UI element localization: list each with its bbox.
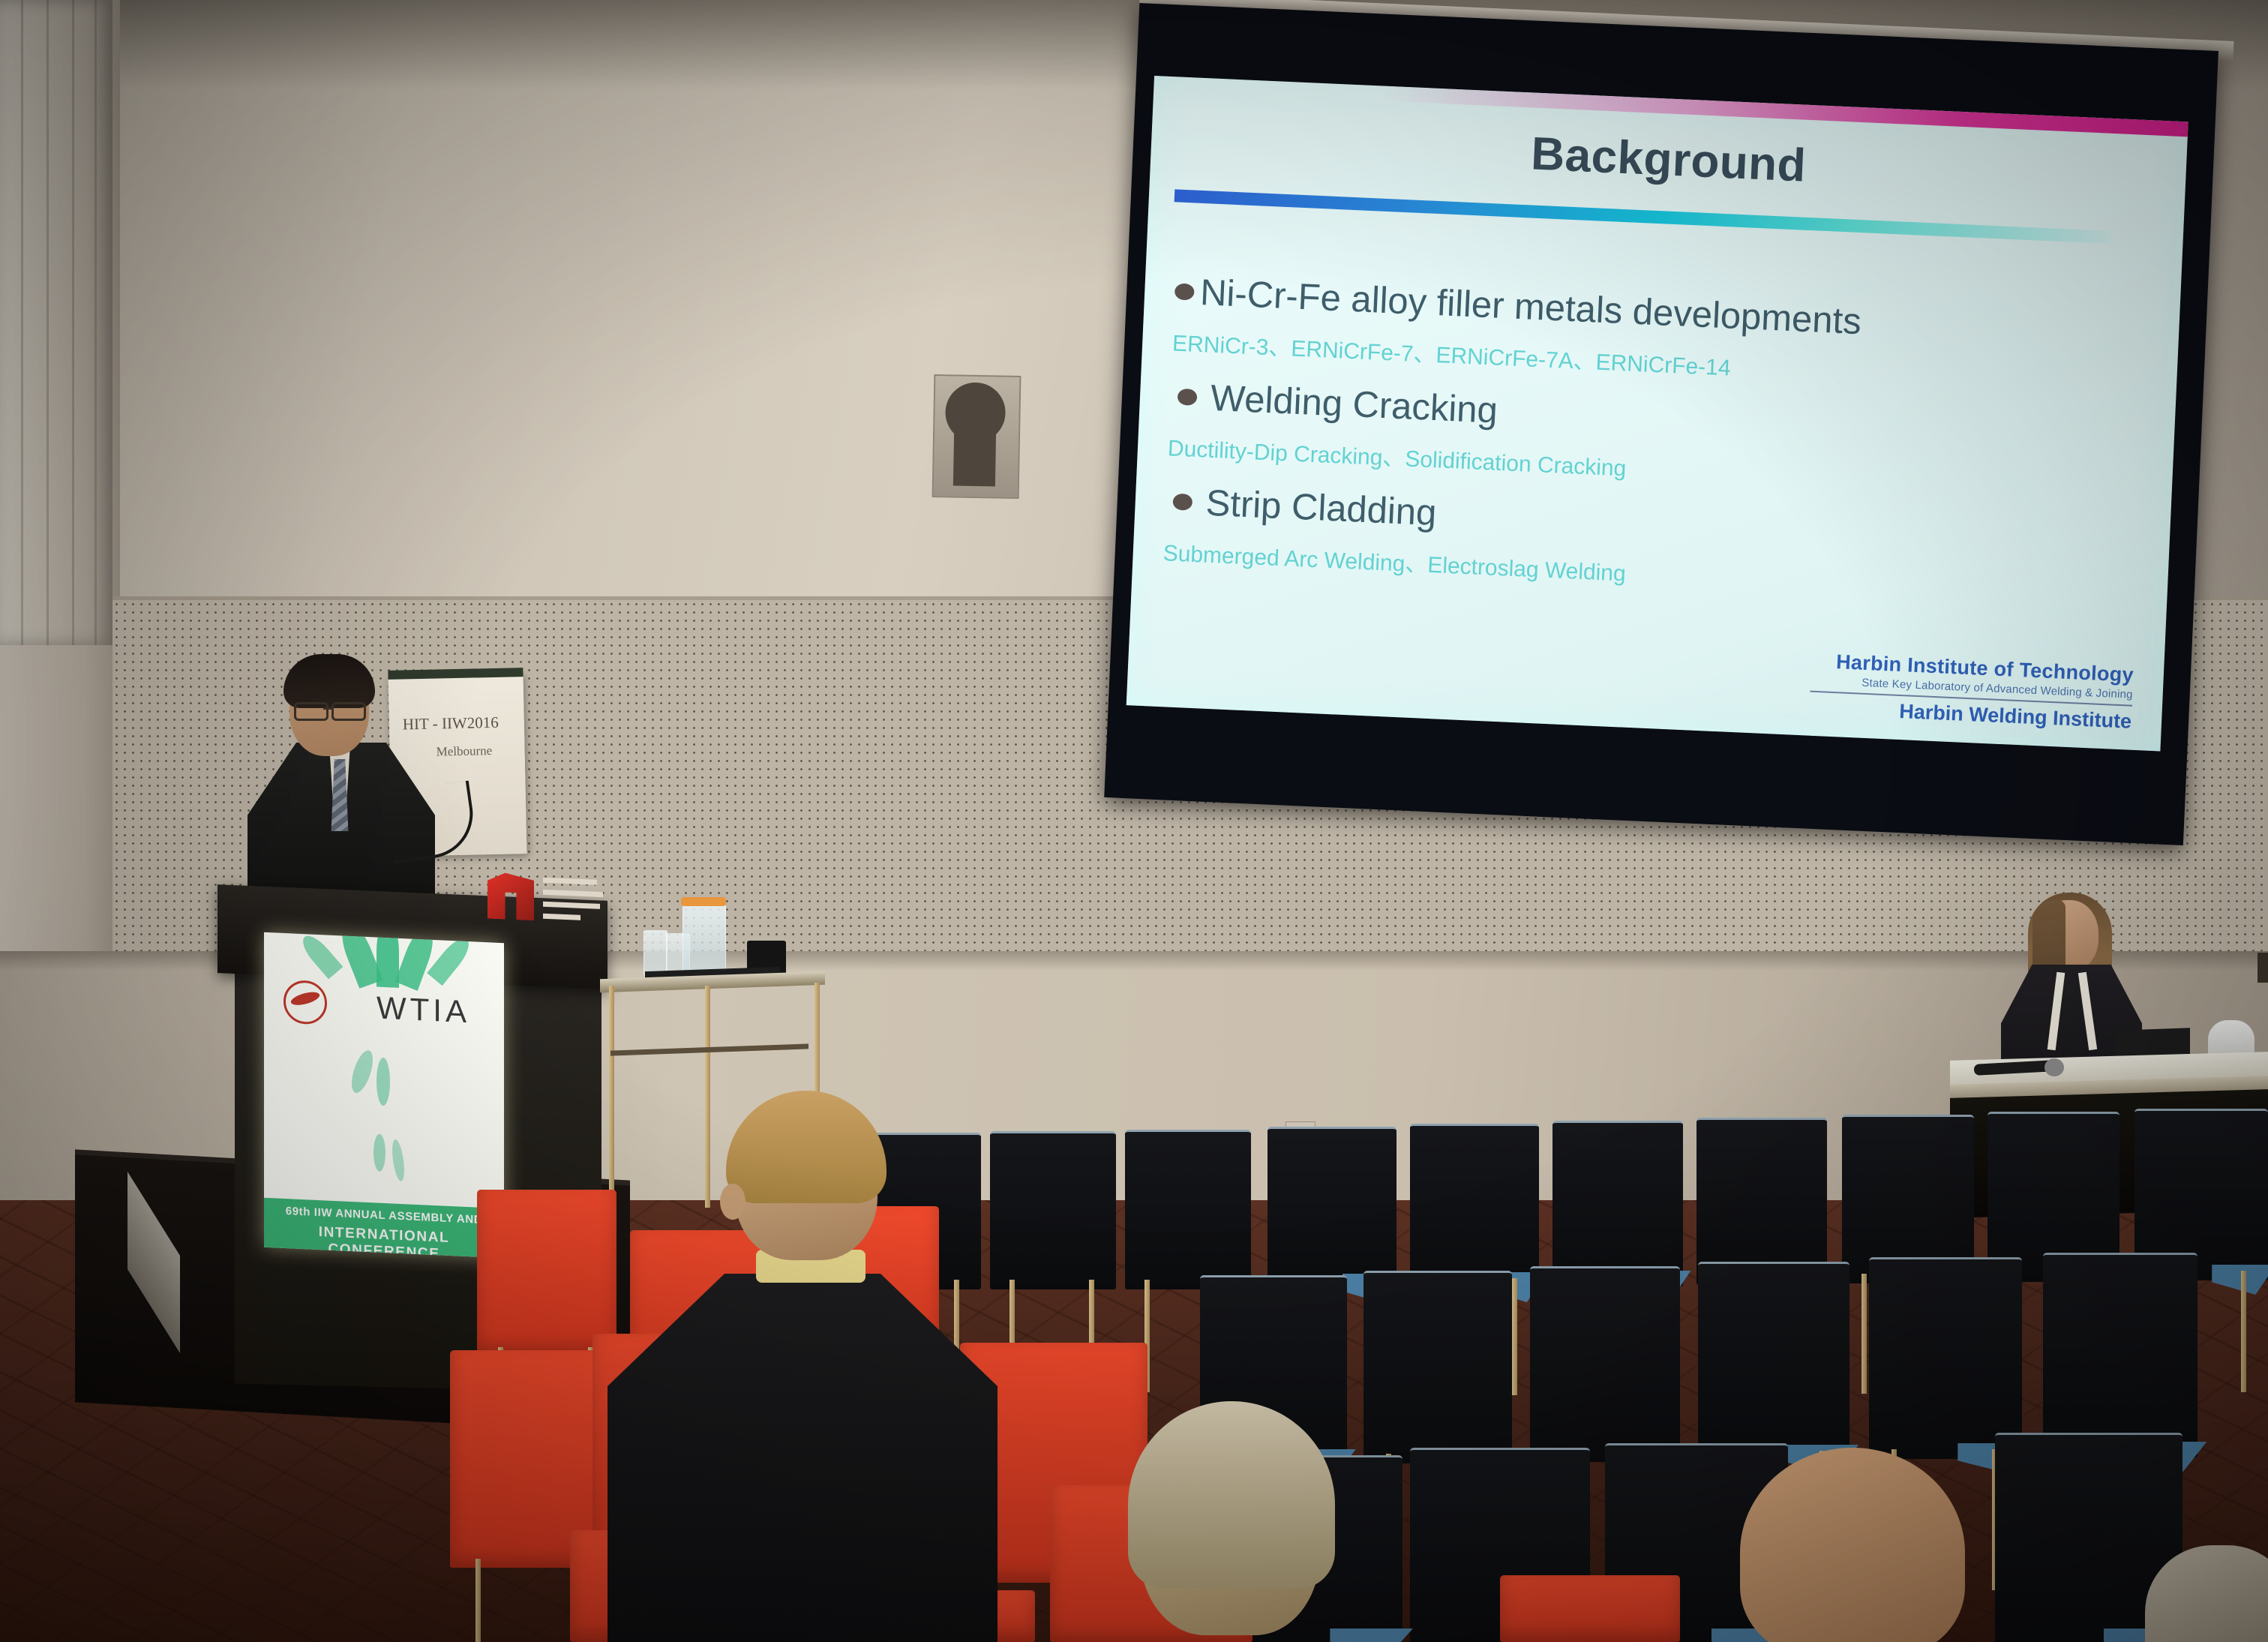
wall-curtain	[0, 0, 112, 645]
carafe-lid	[681, 897, 726, 906]
venue-logo	[487, 868, 607, 935]
bullet-dot-icon	[1177, 389, 1198, 406]
audience-member	[1725, 1448, 2010, 1642]
presenter-hair	[283, 654, 375, 708]
wall-fixture	[2257, 953, 2268, 983]
projection-screen-assembly: Background Ni-Cr-Fe alloy filler metals …	[1104, 0, 2268, 860]
iiw-logo-icon	[283, 980, 327, 1025]
presenter-glasses-bridge	[323, 707, 332, 710]
wtia-logo: WTIA	[376, 990, 470, 1031]
slide-bullet-text: Strip Cladding	[1205, 482, 1438, 535]
slide-bullet-row: Strip Cladding	[1166, 480, 2140, 524]
audience-member	[1095, 1410, 1410, 1642]
side-table-top	[600, 971, 825, 992]
audience-hair	[726, 1091, 886, 1203]
presentation-slide: Background Ni-Cr-Fe alloy filler metals …	[1126, 76, 2188, 752]
chair-dark[interactable]	[1125, 1130, 1251, 1287]
audience-head	[1740, 1448, 1965, 1642]
audience-ear	[720, 1184, 745, 1220]
speaker-grille-rect	[953, 422, 996, 486]
slide-subtext: Submerged Arc Welding、Electroslag Weldin…	[1162, 534, 1627, 587]
presenter-glasses-right	[331, 702, 366, 721]
wall-speaker	[932, 374, 1021, 499]
audience-hair	[1128, 1401, 1335, 1589]
chair-dark[interactable]	[1530, 1266, 1680, 1460]
chair-dark[interactable]	[1696, 1118, 1827, 1283]
chair-dark[interactable]	[1698, 1262, 1849, 1458]
chair-dark[interactable]	[2043, 1253, 2197, 1455]
bullet-dot-icon	[1174, 283, 1195, 300]
mcec-logo-mark	[487, 872, 534, 921]
chair-red[interactable]	[1500, 1575, 1680, 1642]
podium-banner: WTIA 69th IIW ANNUAL ASSEMBLY AND INTERN…	[264, 932, 504, 1259]
presenter	[247, 660, 435, 908]
chair-dark[interactable]	[1267, 1127, 1396, 1287]
slide-bullet-row: Welding Cracking	[1171, 375, 2145, 419]
conference-room-photo: Background Ni-Cr-Fe alloy filler metals …	[0, 0, 2268, 1642]
chair-dark[interactable]	[1410, 1124, 1539, 1286]
slide-subtext: Ductility-Dip Cracking、Solidification Cr…	[1167, 429, 1627, 482]
chair-dark[interactable]	[1869, 1257, 2022, 1457]
chair-dark[interactable]	[1552, 1121, 1683, 1284]
audience-member	[585, 1103, 1020, 1642]
slide-bullet-row: Ni-Cr-Fe alloy filler metals development…	[1176, 270, 2150, 314]
slide-bullet-text: Welding Cracking	[1210, 377, 1498, 432]
audience-suit	[607, 1274, 997, 1642]
chair-dark[interactable]	[1842, 1115, 1974, 1281]
flipchart-line2: Melbourne	[436, 743, 492, 760]
bullet-dot-icon	[1172, 494, 1192, 511]
presenter-glasses-left	[294, 702, 328, 721]
microphone-head	[2044, 1058, 2064, 1076]
